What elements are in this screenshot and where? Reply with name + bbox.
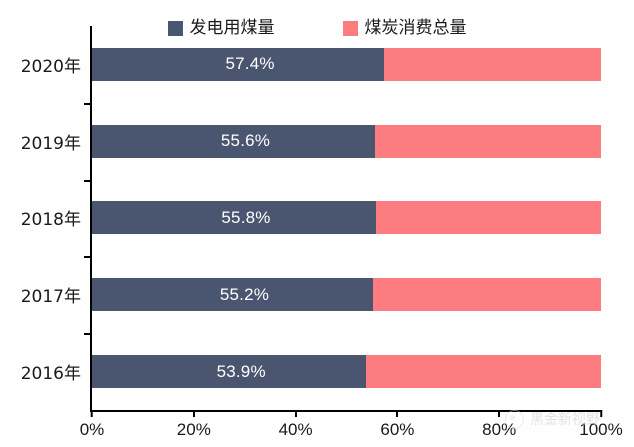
x-axis-tick-mark [498, 410, 500, 417]
x-axis-tick-mark [396, 410, 398, 417]
category-label: 2020年 [21, 52, 81, 77]
bar-segment-total-coal[interactable] [366, 355, 601, 388]
x-axis-tick-label: 80% [482, 420, 516, 440]
x-axis-tick-mark [295, 410, 297, 417]
bar-value-label: 55.2% [220, 285, 269, 305]
bar-row: 2020年57.4% [92, 26, 601, 103]
plot-area: 2020年57.4%2019年55.6%2018年55.8%2017年55.2%… [92, 26, 601, 410]
y-axis-tick [84, 256, 92, 258]
bar-row: 2017年55.2% [92, 256, 601, 333]
bar-row: 2019年55.6% [92, 103, 601, 180]
stacked-bar[interactable]: 55.2% [92, 278, 601, 311]
x-axis-tick: 60% [380, 410, 414, 440]
x-axis-tick: 80% [482, 410, 516, 440]
bar-segment-power-coal[interactable]: 55.6% [92, 125, 375, 158]
stacked-bar[interactable]: 55.8% [92, 201, 601, 234]
stacked-bar[interactable]: 57.4% [92, 48, 601, 81]
bar-segment-total-coal[interactable] [375, 125, 601, 158]
bar-row: 2018年55.8% [92, 180, 601, 257]
x-axis-tick-label: 100% [579, 420, 622, 440]
category-label: 2019年 [21, 129, 81, 154]
category-label: 2016年 [21, 359, 81, 384]
x-axis-tick-label: 0% [80, 420, 105, 440]
x-axis-tick-mark [91, 410, 93, 417]
stacked-bar[interactable]: 53.9% [92, 355, 601, 388]
x-axis-tick-label: 60% [380, 420, 414, 440]
bar-segment-power-coal[interactable]: 53.9% [92, 355, 366, 388]
x-axis-tick-label: 40% [279, 420, 313, 440]
bar-value-label: 55.6% [221, 131, 270, 151]
bar-segment-total-coal[interactable] [384, 48, 601, 81]
x-axis-tick-label: 20% [177, 420, 211, 440]
bar-segment-total-coal[interactable] [373, 278, 601, 311]
bar-value-label: 57.4% [225, 54, 274, 74]
bar-segment-total-coal[interactable] [376, 201, 601, 234]
y-axis-tick [84, 180, 92, 182]
x-axis-tick: 40% [279, 410, 313, 440]
stacked-bar[interactable]: 55.6% [92, 125, 601, 158]
bar-segment-power-coal[interactable]: 55.8% [92, 201, 376, 234]
y-axis-tick [84, 333, 92, 335]
category-label: 2018年 [21, 205, 81, 230]
bar-value-label: 55.8% [221, 208, 270, 228]
stacked-bar-chart: 发电用煤量 煤炭消费总量 2020年57.4%2019年55.6%2018年55… [0, 0, 634, 447]
y-axis-tick [84, 103, 92, 105]
bar-segment-power-coal[interactable]: 55.2% [92, 278, 373, 311]
bar-value-label: 53.9% [217, 362, 266, 382]
x-axis-tick-mark [193, 410, 195, 417]
bar-rows: 2020年57.4%2019年55.6%2018年55.8%2017年55.2%… [92, 26, 601, 410]
category-label: 2017年 [21, 282, 81, 307]
x-axis-tick: 20% [177, 410, 211, 440]
x-axis-tick: 100% [579, 410, 622, 440]
x-axis-tick: 0% [80, 410, 105, 440]
bar-segment-power-coal[interactable]: 57.4% [92, 48, 384, 81]
bar-row: 2016年53.9% [92, 333, 601, 410]
x-axis-tick-mark [600, 410, 602, 417]
x-axis-ticks: 0%20%40%60%80%100% [92, 410, 601, 447]
